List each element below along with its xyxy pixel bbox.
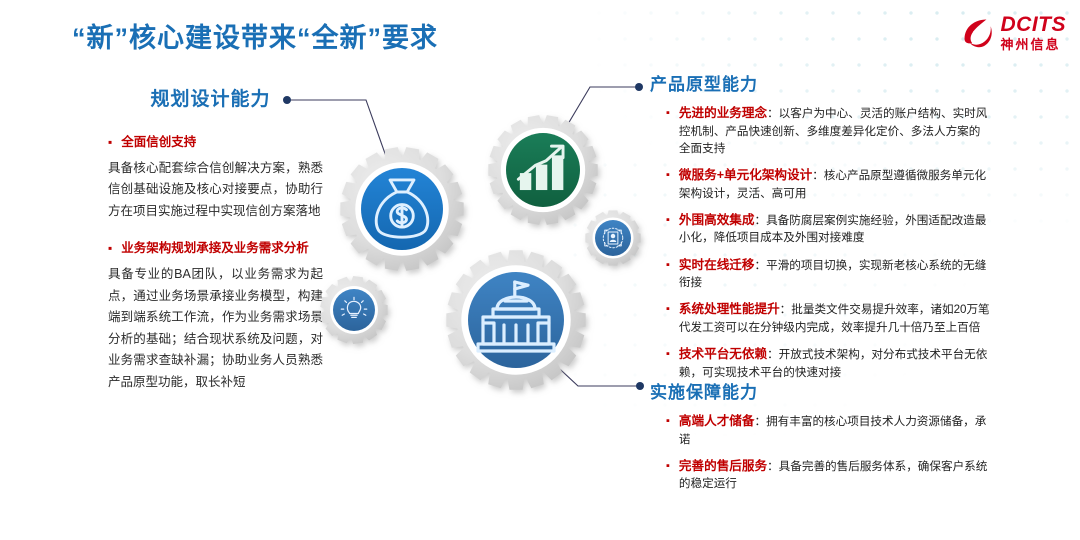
prototype-item: ▪外围高效集成：具备防腐层案例实施经验，外围适配改造最小化，降低项目成本及外围对… (650, 211, 990, 247)
prototype-capability-column: 产品原型能力 ▪先进的业务理念：以客户为中心、灵活的账户结构、实时风控机制、产品… (650, 70, 990, 381)
bullet-dot-icon: ▪ (666, 168, 670, 204)
brand-logo: DCITS 神州信息 (961, 14, 1067, 51)
implementation-item-body: 高端人才储备：拥有丰富的核心项目技术人力资源储备，承诺 (679, 412, 990, 448)
planning-bullet-2: ▪ 业务架构规划承接及业务需求分析 (108, 239, 323, 258)
gear-user-badge (585, 210, 640, 265)
implementation-item-body: 完善的售后服务：具备完善的售后服务体系，确保客户系统的稳定运行 (679, 457, 990, 493)
prototype-item: ▪系统处理性能提升：批量类文件交易提升效率，诸如20万笔代发工资可以在分钟级内完… (650, 300, 990, 336)
gear-hub-halo (501, 128, 585, 212)
implementation-item: ▪完善的售后服务：具备完善的售后服务体系，确保客户系统的稳定运行 (650, 457, 990, 493)
bullet-dot-icon: ▪ (666, 302, 670, 338)
planning-bullet-2-text: 具备专业的BA团队，以业务需求为起点，通过业务场景承接业务模型，构建端到端系统工… (108, 264, 323, 393)
logo-english: DCITS (1001, 14, 1067, 35)
bullet-dot-icon: ▪ (108, 240, 112, 259)
gear-hub-halo (355, 162, 448, 255)
bullet-dot-icon: ▪ (666, 459, 670, 495)
gear-hub-disc (506, 133, 580, 207)
prototype-connector (543, 87, 639, 166)
prototype-item-key: 先进的业务理念 (679, 106, 767, 120)
gear-hub-disc (333, 289, 375, 331)
prototype-item-key: 系统处理性能提升 (679, 302, 780, 316)
prototype-heading: 产品原型能力 (650, 70, 990, 95)
implementation-connector (533, 344, 640, 386)
gear-lightbulb (320, 276, 387, 344)
bullet-dot-icon: ▪ (666, 106, 670, 159)
gear-capitol-building (446, 250, 585, 389)
gear-teeth-ring (320, 276, 387, 344)
logo-text-block: DCITS 神州信息 (1001, 14, 1067, 51)
implementation-item-key: 完善的售后服务 (679, 459, 767, 473)
implementation-item: ▪高端人才储备：拥有丰富的核心项目技术人力资源储备，承诺 (650, 412, 990, 448)
planning-bullet-1: ▪ 全面信创支持 (108, 133, 323, 152)
gear-hub-halo (592, 217, 633, 258)
gear-hub-halo (461, 265, 570, 374)
prototype-item-list: ▪先进的业务理念：以客户为中心、灵活的账户结构、实时风控机制、产品快速创新、多维… (650, 104, 990, 381)
gear-hub-halo (330, 286, 378, 334)
prototype-item-key: 实时在线迁移 (679, 258, 755, 272)
gear-hub-disc (361, 168, 443, 250)
gear-hub-disc (595, 220, 631, 256)
prototype-connector-endpoint-dot (635, 83, 643, 91)
gear-hub-disc (468, 272, 564, 368)
page-title: “新”核心建设带来“全新”要求 (72, 16, 438, 55)
prototype-item-body: 先进的业务理念：以客户为中心、灵活的账户结构、实时风控机制、产品快速创新、多维度… (679, 104, 990, 157)
lightbulb-icon (341, 297, 366, 317)
gear-teeth-ring (488, 115, 597, 225)
prototype-item: ▪技术平台无依赖：开放式技术架构，对分布式技术平台无依赖，可实现技术平台的快速对… (650, 345, 990, 381)
prototype-item-body: 实时在线迁移：平滑的项目切换，实现新老核心系统的无缝衔接 (679, 256, 990, 292)
implementation-heading: 实施保障能力 (650, 378, 990, 403)
prototype-item-key: 技术平台无依赖 (679, 347, 767, 361)
prototype-item-key: 微服务+单元化架构设计 (679, 168, 812, 182)
planning-bullet-1-text: 具备核心配套综合信创解决方案，熟悉信创基础设施及核心对接要点，协助行方在项目实施… (108, 158, 323, 223)
planning-heading: 规划设计能力 (108, 84, 323, 111)
prototype-item-body: 系统处理性能提升：批量类文件交易提升效率，诸如20万笔代发工资可以在分钟级内完成… (679, 300, 990, 336)
dcits-swoosh-icon (961, 17, 995, 49)
implementation-item-key: 高端人才储备 (679, 414, 755, 428)
implementation-connector-endpoint-dot (636, 382, 644, 390)
government-building-icon (478, 282, 554, 351)
prototype-item: ▪实时在线迁移：平滑的项目切换，实现新老核心系统的无缝衔接 (650, 256, 990, 292)
bullet-dot-icon: ▪ (666, 258, 670, 294)
prototype-item-key: 外围高效集成 (679, 213, 755, 227)
planning-bullet-2-title: 业务架构规划承接及业务需求分析 (121, 239, 309, 258)
prototype-item-body: 外围高效集成：具备防腐层案例实施经验，外围适配改造最小化，降低项目成本及外围对接… (679, 211, 990, 247)
gear-growth-chart (488, 115, 597, 225)
gear-teeth-ring (585, 210, 640, 265)
slide-canvas: “新”核心建设带来“全新”要求 DCITS 神州信息 (0, 0, 1080, 540)
user-badge-icon (603, 228, 623, 248)
bullet-dot-icon: ▪ (108, 134, 112, 153)
planning-bullet-1-title: 全面信创支持 (121, 133, 196, 152)
bar-chart-growth-icon (518, 146, 563, 190)
gear-money-bag (340, 147, 463, 271)
gear-teeth-ring (446, 250, 585, 389)
bullet-dot-icon: ▪ (666, 213, 670, 249)
prototype-item: ▪先进的业务理念：以客户为中心、灵活的账户结构、实时风控机制、产品快速创新、多维… (650, 104, 990, 157)
prototype-item-body: 技术平台无依赖：开放式技术架构，对分布式技术平台无依赖，可实现技术平台的快速对接 (679, 345, 990, 381)
implementation-capability-column: 实施保障能力 ▪高端人才储备：拥有丰富的核心项目技术人力资源储备，承诺▪完善的售… (650, 378, 990, 493)
implementation-item-list: ▪高端人才储备：拥有丰富的核心项目技术人力资源储备，承诺▪完善的售后服务：具备完… (650, 412, 990, 493)
gear-teeth-ring (340, 147, 463, 271)
planning-capability-column: 规划设计能力 ▪ 全面信创支持 具备核心配套综合信创解决方案，熟悉信创基础设施及… (108, 84, 323, 393)
money-bag-icon (376, 180, 428, 237)
bullet-dot-icon: ▪ (666, 414, 670, 450)
logo-chinese: 神州信息 (1001, 38, 1067, 51)
prototype-item-body: 微服务+单元化架构设计：核心产品原型遵循微服务单元化架构设计，灵活、高可用 (679, 166, 990, 202)
prototype-item: ▪微服务+单元化架构设计：核心产品原型遵循微服务单元化架构设计，灵活、高可用 (650, 166, 990, 202)
